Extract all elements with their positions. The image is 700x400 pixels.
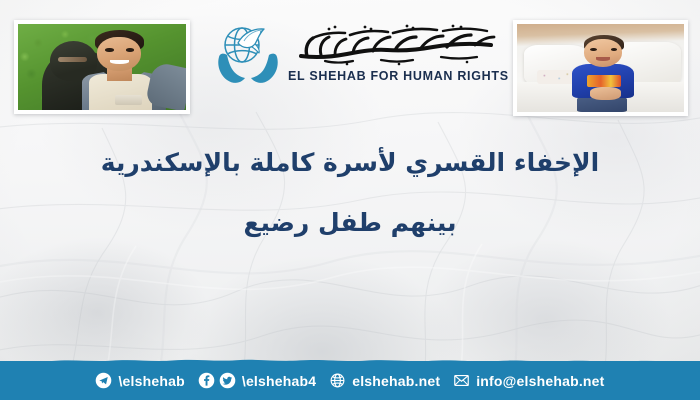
child-face (584, 39, 622, 67)
footer-label-social: \elshehab4 (242, 373, 316, 389)
organization-logo: EL SHEHAB FOR HUMAN RIGHTS (214, 14, 496, 90)
arabic-calligraphy-wordmark (295, 23, 501, 67)
child-mouth (596, 57, 609, 61)
child-left-eye (590, 48, 597, 51)
headline-line-2: بينهم طفل رضيع (0, 210, 700, 236)
globe-dove-hands-emblem (214, 17, 282, 87)
footer-item-website[interactable]: elshehab.net (329, 372, 440, 389)
footer-item-social[interactable]: \elshehab4 (198, 372, 316, 389)
man-face (97, 37, 141, 71)
footer-item-email[interactable]: info@elshehab.net (453, 372, 604, 389)
footer-label-website: elshehab.net (352, 373, 440, 389)
man-left-eye (105, 48, 113, 51)
footer-label-email: info@elshehab.net (476, 373, 604, 389)
photo-infant (513, 20, 688, 116)
child-right-eye (611, 48, 618, 51)
globe-icon (329, 372, 346, 389)
footer-bar: \elshehab (0, 352, 700, 400)
headline: الإخفاء القسري لأسرة كاملة بالإسكندرية ب… (0, 150, 700, 237)
twitter-icon (219, 372, 236, 389)
footer-contact-list: \elshehab (0, 361, 700, 400)
shirt-badge (115, 95, 142, 105)
poster-canvas: EL SHEHAB FOR HUMAN RIGHTS الإخفاء القسر… (0, 0, 700, 400)
woman-eyes (58, 57, 87, 62)
footer-label-telegram: \elshehab (118, 373, 184, 389)
facebook-icon (198, 372, 215, 389)
headline-line-1: الإخفاء القسري لأسرة كاملة بالإسكندرية (0, 150, 700, 176)
footer-item-telegram[interactable]: \elshehab (95, 372, 184, 389)
envelope-icon (453, 372, 470, 389)
child-hands (590, 87, 620, 99)
man-right-eye (126, 48, 134, 51)
patterned-cushion (537, 70, 574, 84)
shirt-print (587, 75, 620, 87)
logo-english-name: EL SHEHAB FOR HUMAN RIGHTS (288, 69, 509, 83)
photo-couple (14, 20, 190, 114)
social-icon-pair (198, 372, 236, 389)
telegram-icon (95, 372, 112, 389)
